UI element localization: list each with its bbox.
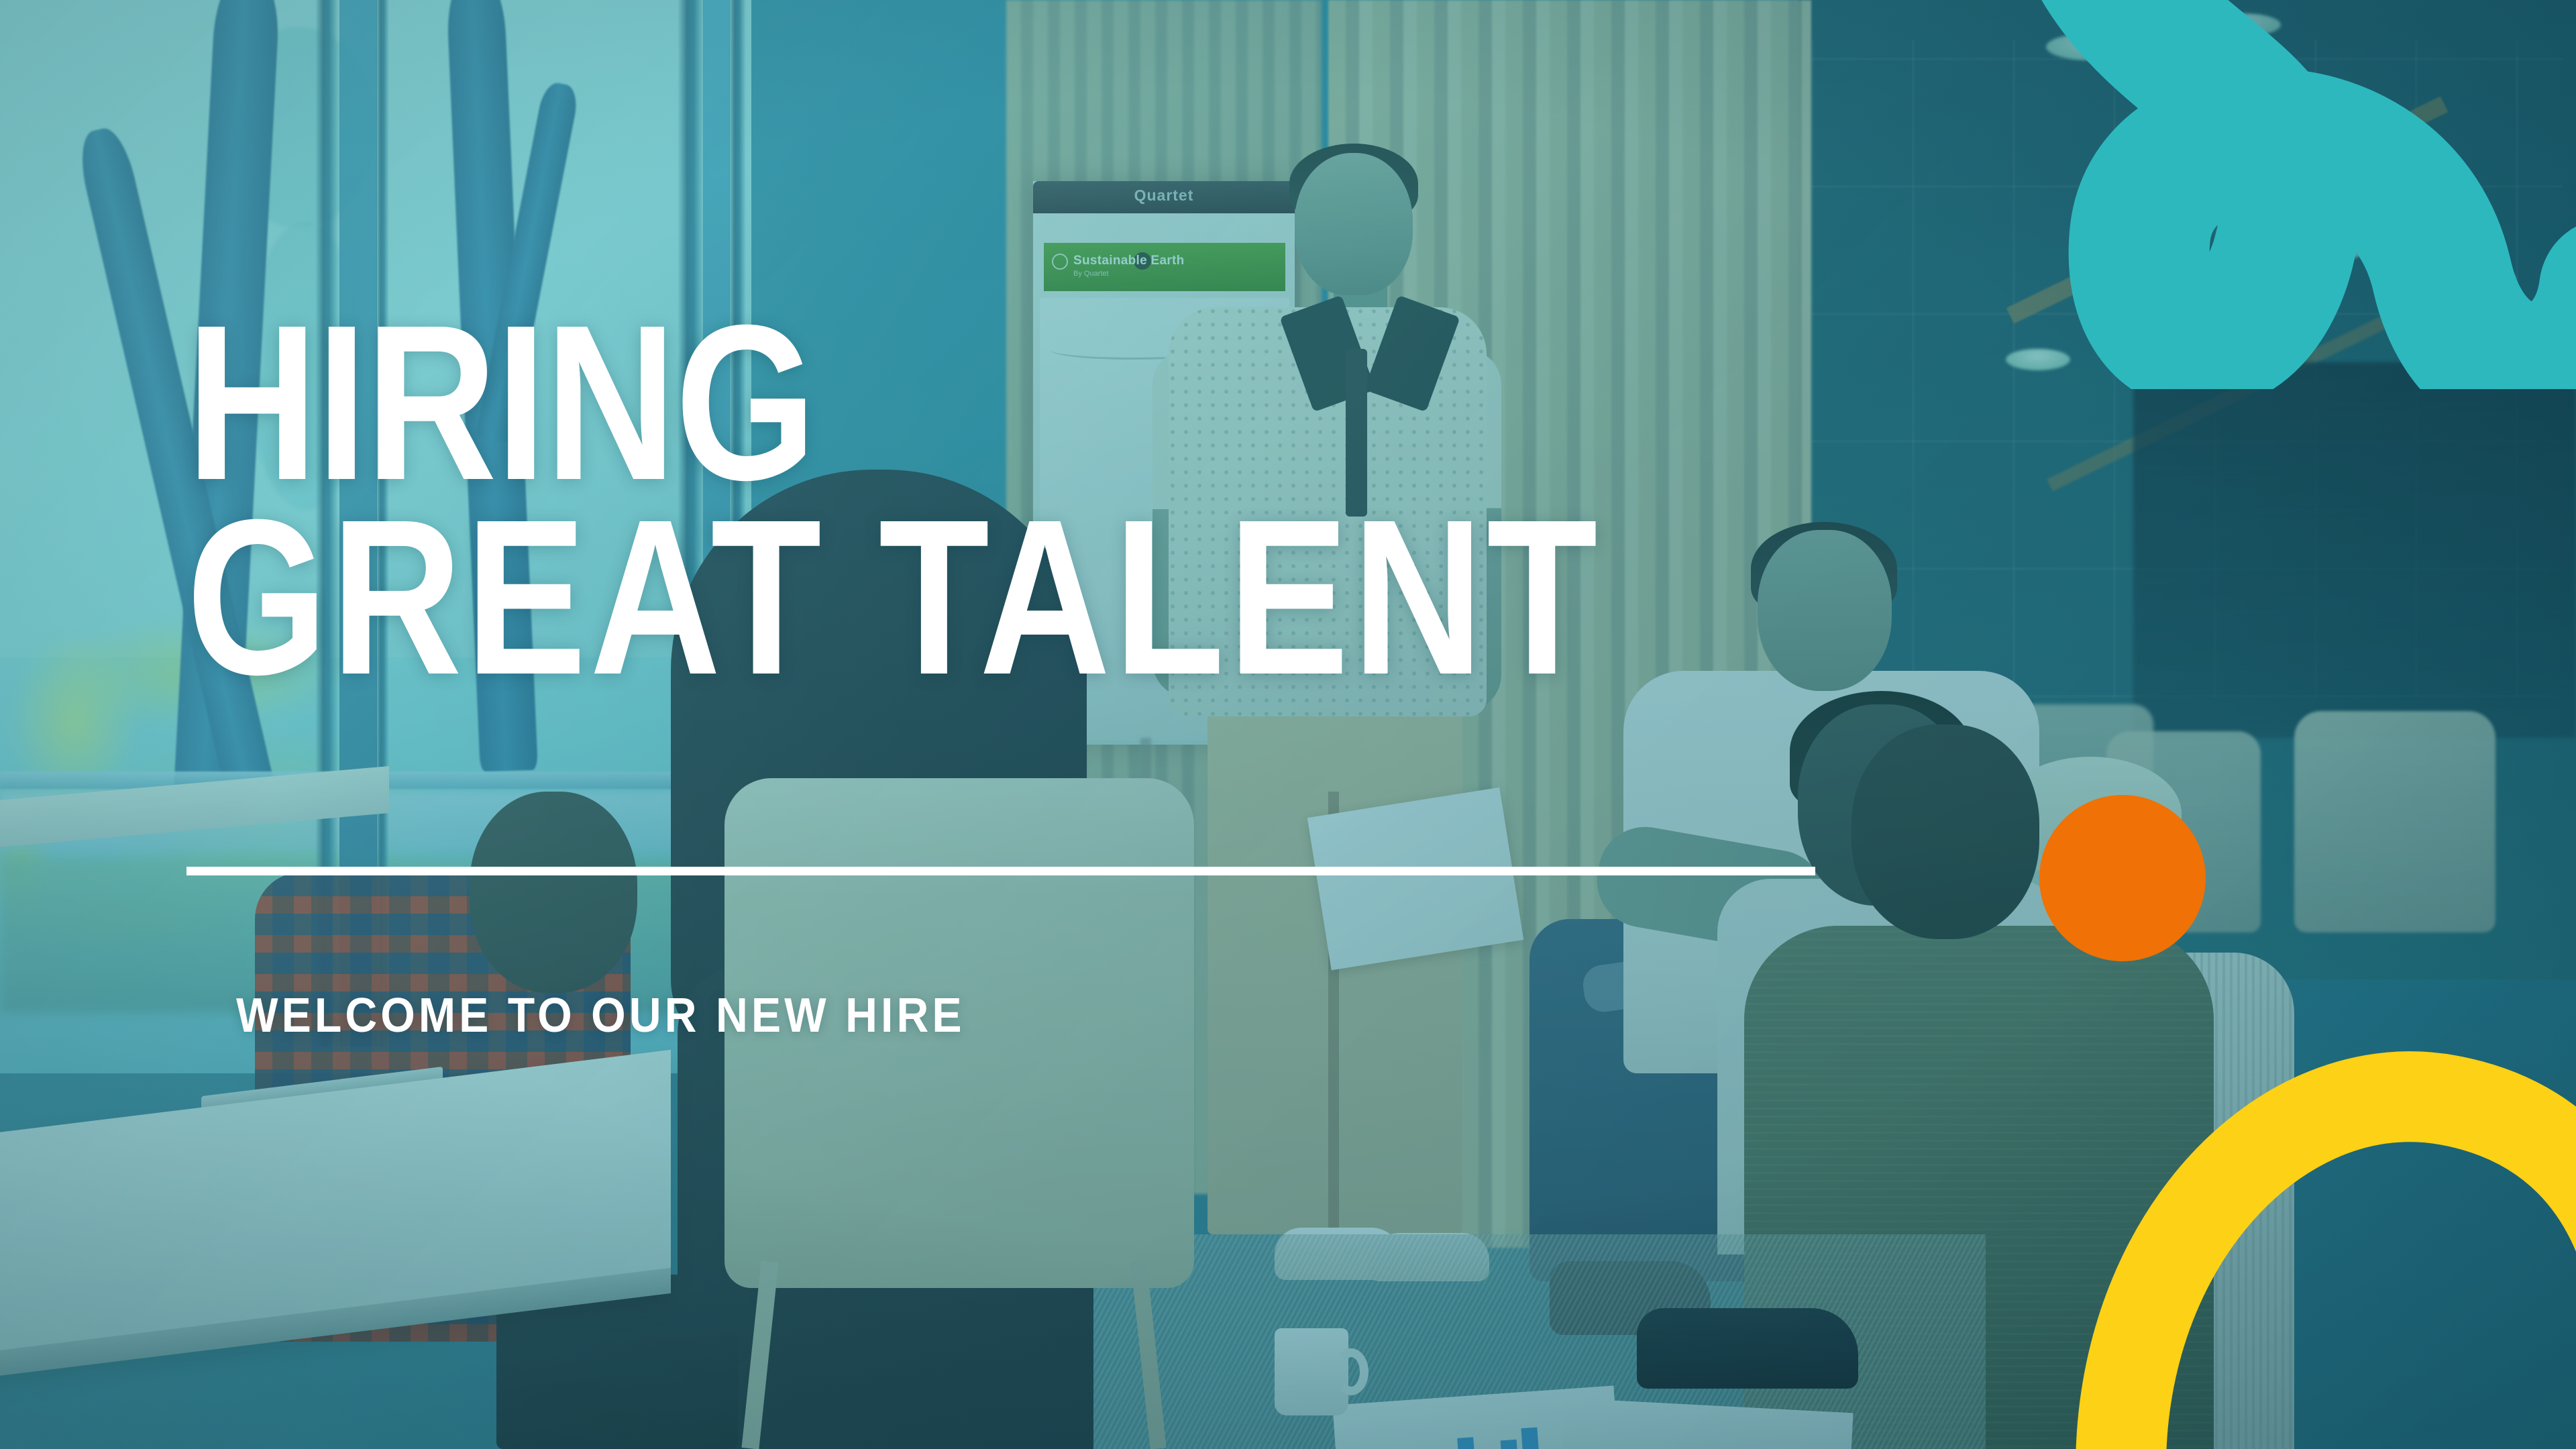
teal-squiggle-icon bbox=[1972, 0, 2576, 389]
subtitle: WELCOME TO OUR NEW HIRE bbox=[236, 991, 965, 1040]
divider-rule bbox=[186, 867, 1815, 875]
orange-circle-icon bbox=[2039, 795, 2206, 961]
yellow-arc-icon bbox=[2046, 986, 2576, 1449]
page-title: HIRING GREAT TALENT bbox=[186, 305, 1672, 695]
headline-block: HIRING GREAT TALENT bbox=[186, 305, 1998, 695]
headline-line-2: GREAT TALENT bbox=[186, 500, 1672, 694]
banner-canvas: Quartet Sustainable Earth By Quartet bbox=[0, 0, 2576, 1449]
